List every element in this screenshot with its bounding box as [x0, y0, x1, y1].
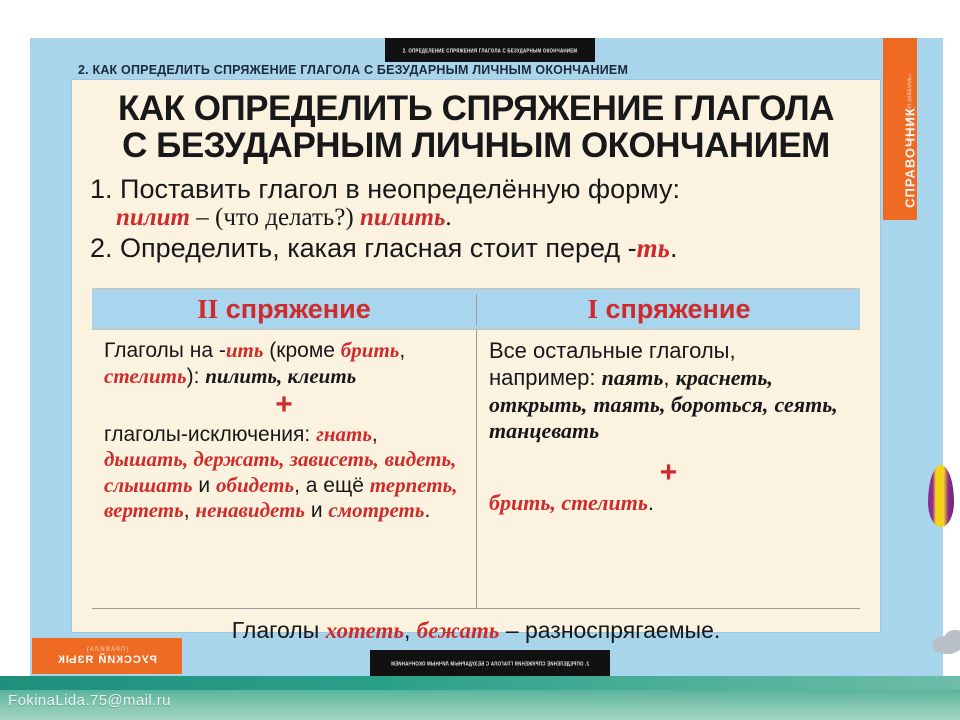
- step-1-example-prefix: пилит: [116, 204, 190, 231]
- step-item: 1. Поставить глагол в неопределённую фор…: [90, 174, 880, 233]
- plus-sign-right: +: [489, 459, 848, 488]
- plus-sign-left: +: [104, 391, 464, 420]
- subject-badge-sub: (ПРАВИЛА): [86, 647, 129, 653]
- side-tab-label: СПРАВОЧНИК: [903, 73, 918, 221]
- ii-line7-b: и: [305, 499, 328, 522]
- step-1-number: 1.: [90, 174, 113, 204]
- page-title-line-2: С БЕЗУДАРНЫМ ЛИЧНЫМ ОКОНЧАНИЕМ: [72, 127, 880, 164]
- header-roman-i: I: [588, 294, 599, 324]
- i-line1: Все остальные глаголы,: [489, 338, 736, 363]
- ii-line2-c: пилить, клеить: [205, 364, 356, 388]
- footer-suffix: – разноспрягаемые.: [499, 617, 720, 643]
- column-ii-rule: Глаголы на -ить (кроме брить, стелить): …: [104, 338, 464, 389]
- cloud-icon: [944, 630, 960, 648]
- table-header-cell-i: I спряжение: [476, 294, 861, 325]
- column-ii-exceptions: глаголы-исключения: гнать, дышать, держа…: [104, 422, 464, 524]
- top-micro-banner: 2. ОПРЕДЕЛЕНИЕ СПРЯЖЕНИЯ ГЛАГОЛА С БЕЗУД…: [385, 38, 595, 62]
- ii-line7-a: ненавидеть: [195, 498, 305, 522]
- conjugation-table: II спряжение I спряжение Глаголы на -ить…: [92, 288, 860, 650]
- side-tab-orange: РУССКИЙ ЯЗЫК НАЧАЛЬНАЯ ШКОЛА СПРАВОЧНИК: [883, 38, 917, 220]
- i-line2-c: ,: [663, 365, 669, 390]
- content-panel: КАК ОПРЕДЕЛИТЬ СПРЯЖЕНИЕ ГЛАГОЛА С БЕЗУД…: [72, 80, 880, 632]
- ii-line1-c: (кроме: [263, 339, 340, 362]
- i-line4: таять, бороться,: [593, 392, 768, 417]
- step-1-example-end: .: [445, 204, 451, 231]
- ii-line2-b: ):: [187, 365, 206, 388]
- i-line6-a: брить, стелить: [489, 490, 648, 515]
- step-2-text-after: .: [670, 233, 678, 263]
- page-title: КАК ОПРЕДЕЛИТЬ СПРЯЖЕНИЕ ГЛАГОЛА С БЕЗУД…: [72, 90, 880, 164]
- step-2-highlight: ть: [637, 233, 670, 263]
- slide-caption: 2. КАК ОПРЕДЕЛИТЬ СПРЯЖЕНИЕ ГЛАГОЛА С БЕ…: [78, 63, 628, 77]
- ii-line3-b: гнать: [316, 422, 372, 446]
- table-header-cell-ii: II спряжение: [92, 294, 476, 325]
- ii-line1-e: ,: [399, 339, 405, 362]
- table-column-i: Все остальные глаголы, например: паять, …: [476, 330, 860, 608]
- step-1-example-middle: – (что делать?): [190, 204, 360, 231]
- ii-line1-a: Глаголы на -: [104, 339, 226, 362]
- step-1-example-suffix: пилить: [360, 204, 445, 231]
- ii-line5-c: обидеть: [216, 473, 294, 497]
- column-i-extra: брить, стелить.: [489, 490, 848, 517]
- i-line6-b: .: [648, 490, 654, 515]
- table-body: Глаголы на -ить (кроме брить, стелить): …: [92, 330, 860, 608]
- bottom-micro-banner: 2. ОПРЕДЕЛЕНИЕ СПРЯЖЕНИЯ ГЛАГОЛА С БЕЗУД…: [370, 650, 610, 676]
- footer-verb-1: хотеть: [326, 618, 404, 643]
- ii-line2-a: стелить: [104, 364, 187, 388]
- subject-badge-main: РУССКИЙ ЯЗЫК: [57, 654, 157, 666]
- steps-list: 1. Поставить глагол в неопределённую фор…: [90, 174, 880, 263]
- ii-line3-c: ,: [372, 423, 378, 446]
- table-footer-row: Глаголы хотеть, бежать – разноспрягаемые…: [92, 608, 860, 650]
- subject-badge: (ПРАВИЛА) РУССКИЙ ЯЗЫК: [32, 638, 182, 674]
- bottom-micro-banner-text: 2. ОПРЕДЕЛЕНИЕ СПРЯЖЕНИЯ ГЛАГОЛА С БЕЗУД…: [391, 660, 589, 666]
- ii-line7-c: смотреть: [328, 498, 424, 522]
- hot-air-balloon-icon: [928, 465, 954, 527]
- top-micro-banner-text: 2. ОПРЕДЕЛЕНИЕ СПРЯЖЕНИЯ ГЛАГОЛА С БЕЗУД…: [403, 47, 578, 53]
- ii-line6-c: ,: [184, 499, 190, 522]
- header-roman-ii: II: [197, 294, 218, 324]
- header-word-ii: спряжение: [226, 294, 371, 324]
- column-i-rule: Все остальные глаголы, например: паять, …: [489, 338, 848, 445]
- ii-line5-d: ,: [294, 474, 300, 497]
- table-header-row: II спряжение I спряжение: [92, 288, 860, 330]
- step-2-number: 2.: [90, 233, 113, 263]
- email-watermark: FokinaLida.75@mail.ru: [8, 692, 171, 709]
- ii-line6-a: а ещё: [306, 474, 370, 497]
- i-line2-a: например:: [489, 365, 602, 390]
- step-1-example: пилит – (что делать?) пилить.: [116, 204, 880, 233]
- i-line2-b: паять: [602, 365, 664, 390]
- footer-verb-2: бежать: [417, 618, 500, 643]
- ii-line4: дышать, держать, зависеть,: [104, 447, 379, 471]
- step-2-text-before: Определить, какая гласная стоит перед -: [120, 233, 637, 263]
- footer-prefix: Глаголы: [232, 617, 326, 643]
- ii-line7-d: .: [424, 499, 430, 522]
- ii-line1-b: ить: [226, 338, 264, 362]
- ii-line5-b: и: [193, 474, 216, 497]
- header-word-i: спряжение: [606, 294, 751, 324]
- step-1-text: Поставить глагол в неопределённую форму:: [120, 174, 680, 204]
- step-item: 2. Определить, какая гласная стоит перед…: [90, 233, 880, 263]
- ii-line3-a: глаголы-исключения:: [104, 423, 316, 446]
- footer-separator: ,: [404, 617, 417, 643]
- table-column-ii: Глаголы на -ить (кроме брить, стелить): …: [92, 330, 476, 608]
- page-title-line-1: КАК ОПРЕДЕЛИТЬ СПРЯЖЕНИЕ ГЛАГОЛА: [72, 90, 880, 127]
- ii-line1-d: брить: [341, 338, 400, 362]
